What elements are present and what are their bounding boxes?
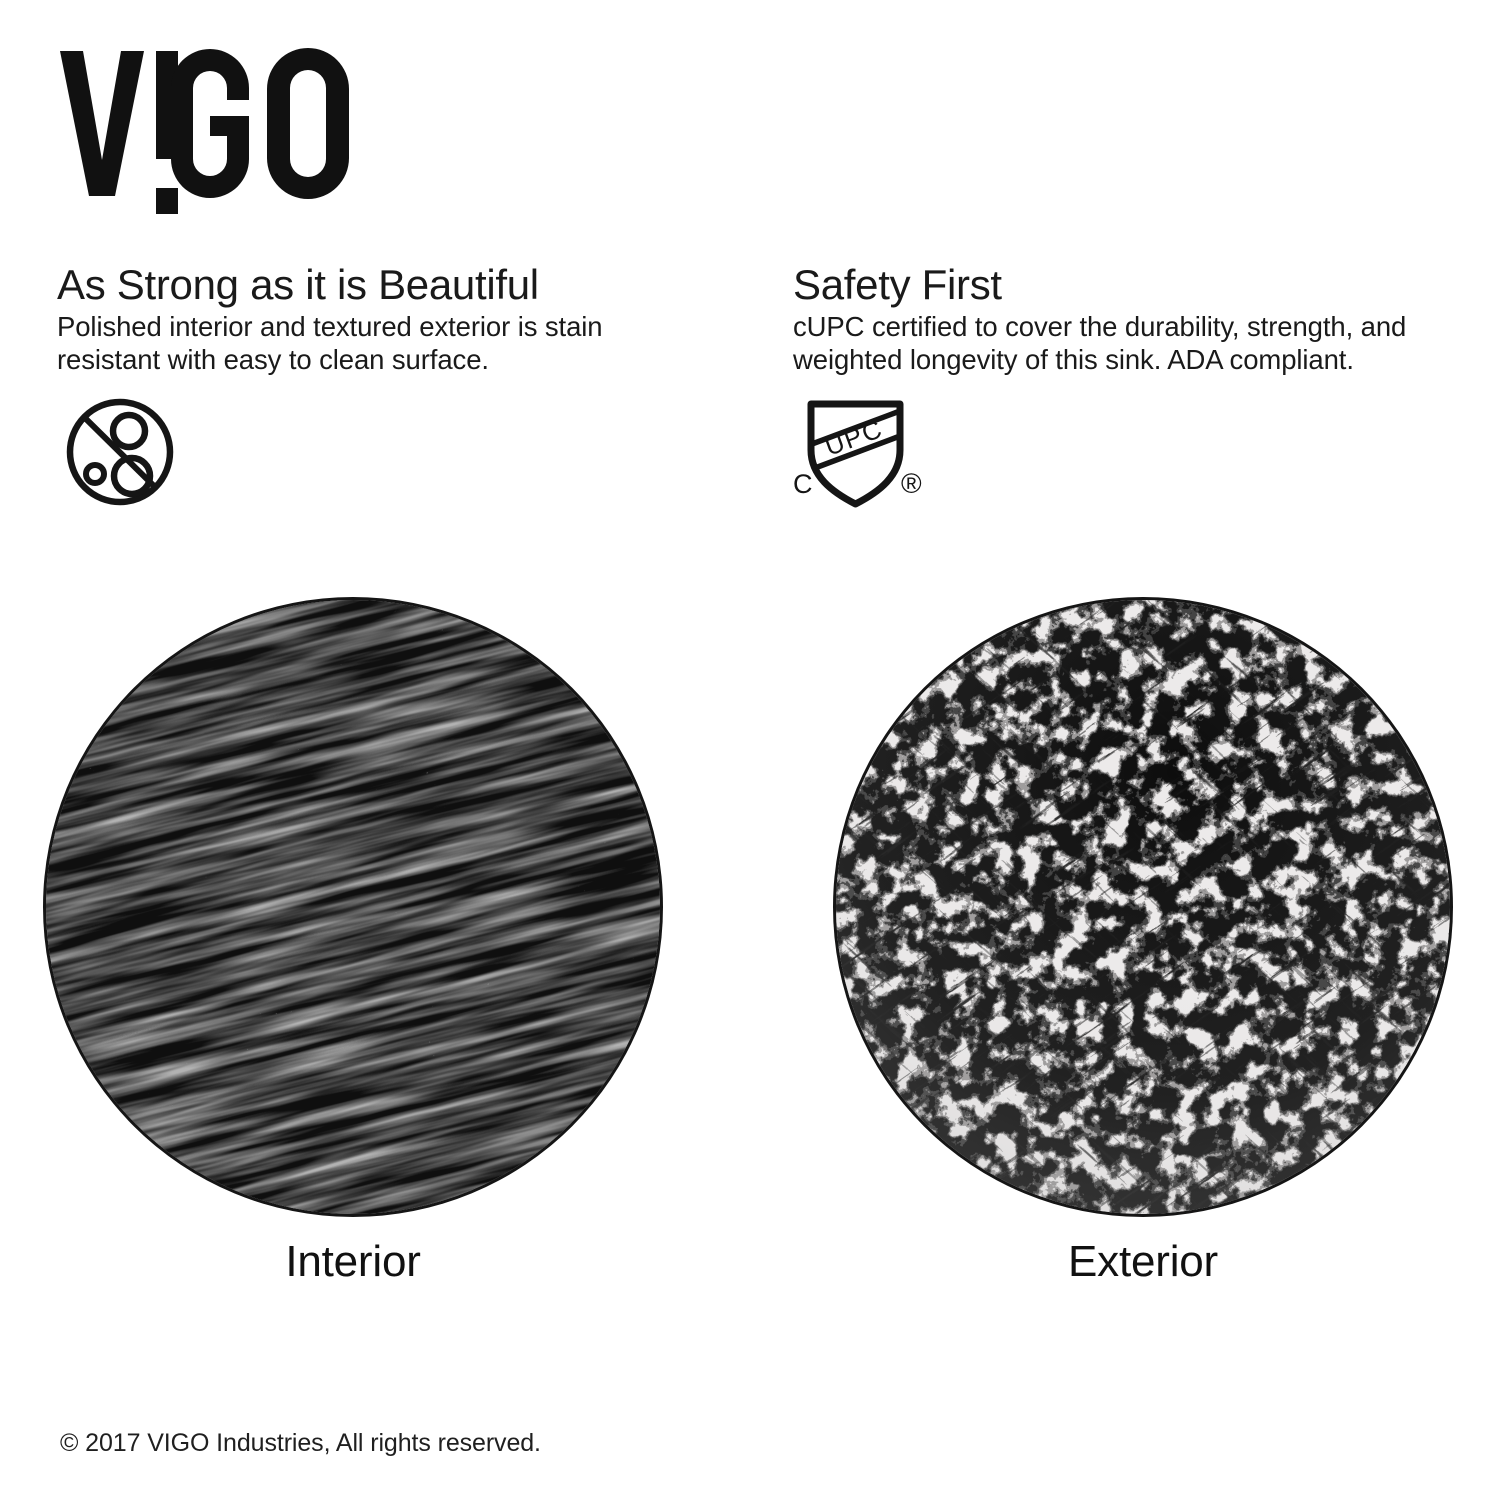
sample-interior: Interior	[46, 600, 660, 1214]
infographic-page: As Strong as it is Beautiful Polished in…	[0, 0, 1500, 1500]
feature-body-line1: cUPC certified to cover the durability, …	[793, 311, 1406, 342]
interior-texture-swatch	[46, 600, 660, 1214]
exterior-texture-swatch	[836, 600, 1450, 1214]
sample-exterior: Exterior	[836, 600, 1450, 1214]
feature-body: Polished interior and textured exterior …	[57, 310, 697, 376]
cupc-prefix-letter: C	[793, 469, 813, 499]
feature-body-line2: resistant with easy to clean surface.	[57, 344, 489, 375]
feature-block-safety: Safety First cUPC certified to cover the…	[793, 262, 1473, 513]
feature-body-line2: weighted longevity of this sink. ADA com…	[793, 344, 1354, 375]
feature-title: Safety First	[793, 262, 1473, 308]
vigo-logo	[60, 48, 360, 223]
copyright-text: © 2017 VIGO Industries, All rights reser…	[60, 1428, 541, 1458]
cupc-certified-icon: UPC C ®	[793, 398, 1473, 513]
sample-caption: Interior	[46, 1236, 660, 1288]
sample-caption: Exterior	[836, 1236, 1450, 1288]
feature-body: cUPC certified to cover the durability, …	[793, 310, 1473, 376]
feature-block-strong: As Strong as it is Beautiful Polished in…	[57, 262, 697, 510]
registered-mark: ®	[901, 468, 922, 499]
stain-resistant-icon	[57, 398, 697, 510]
feature-body-line1: Polished interior and textured exterior …	[57, 311, 602, 342]
feature-title: As Strong as it is Beautiful	[57, 262, 697, 308]
